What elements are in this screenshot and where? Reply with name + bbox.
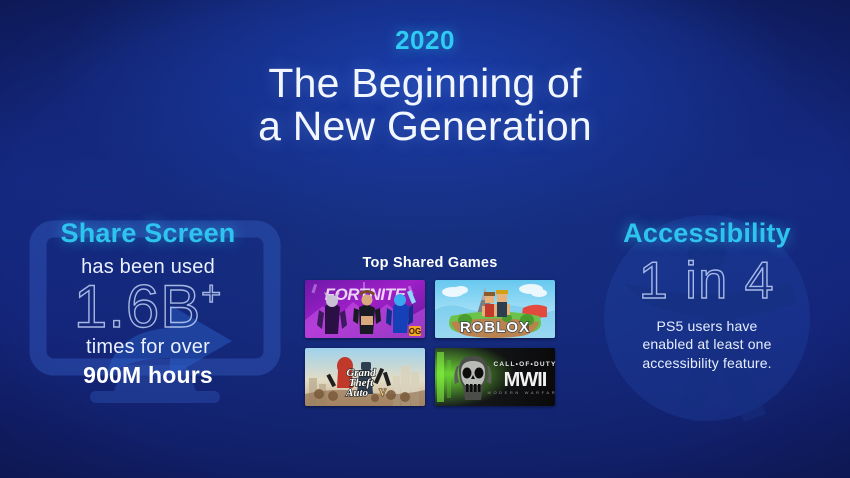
accessibility-note-line-2: enabled at least one: [564, 335, 850, 353]
codmwii-art: CALL•OF•DUTY MWII MODERN WARFARE: [435, 348, 555, 406]
game-tile-gtav[interactable]: Grand Theft Auto V: [305, 348, 425, 406]
share-screen-value: 1.6B+: [0, 277, 296, 337]
share-screen-hours: 900M hours: [0, 362, 296, 389]
accessibility-note-line-3: accessibility feature.: [564, 354, 850, 372]
share-screen-value-number: 1.6B: [74, 273, 201, 340]
share-screen-value-plus: +: [201, 275, 222, 313]
year-label: 2020: [0, 26, 850, 55]
top-shared-games-title: Top Shared Games: [296, 255, 564, 271]
share-screen-subtitle-2: times for over: [0, 336, 296, 359]
svg-text:Auto: Auto: [345, 387, 369, 399]
top-shared-games-grid: FORTNITE: [305, 280, 555, 406]
accessibility-note-line-1: PS5 users have: [564, 317, 850, 335]
svg-text:ROBLOX: ROBLOX: [460, 319, 530, 336]
svg-text:V: V: [379, 388, 387, 399]
svg-text:MWII: MWII: [504, 369, 547, 391]
top-shared-games-panel: Top Shared Games: [296, 205, 564, 445]
stats-row: Share Screen has been used 1.6B+ times f…: [0, 205, 850, 445]
accessibility-content: Accessibility 1 in 4 PS5 users have enab…: [564, 205, 850, 372]
headline-line-2: a New Generation: [0, 105, 850, 149]
accessibility-value: 1 in 4: [564, 255, 850, 307]
slide-canvas: 2020 The Beginning of a New Generation: [0, 0, 850, 478]
share-screen-title: Share Screen: [0, 219, 296, 249]
slide-header: 2020 The Beginning of a New Generation: [0, 26, 850, 149]
share-screen-panel: Share Screen has been used 1.6B+ times f…: [0, 205, 296, 445]
roblox-art: ROBLOX: [435, 280, 555, 338]
accessibility-title: Accessibility: [564, 219, 850, 249]
page-title: The Beginning of a New Generation: [0, 62, 850, 150]
accessibility-note: PS5 users have enabled at least one acce…: [564, 317, 850, 372]
svg-text:CALL•OF•DUTY: CALL•OF•DUTY: [493, 361, 555, 368]
headline-line-1: The Beginning of: [0, 62, 850, 106]
svg-text:MODERN WARFARE: MODERN WARFARE: [488, 390, 555, 395]
game-tile-fortnite[interactable]: FORTNITE: [305, 280, 425, 338]
svg-text:OG: OG: [409, 327, 421, 336]
accessibility-panel: Accessibility 1 in 4 PS5 users have enab…: [564, 205, 850, 445]
game-tile-roblox[interactable]: ROBLOX: [435, 280, 555, 338]
share-screen-content: Share Screen has been used 1.6B+ times f…: [0, 205, 296, 389]
gtav-art: Grand Theft Auto V: [305, 348, 425, 406]
game-tile-cod-mwii[interactable]: CALL•OF•DUTY MWII MODERN WARFARE: [435, 348, 555, 406]
fortnite-art: FORTNITE: [305, 280, 425, 338]
